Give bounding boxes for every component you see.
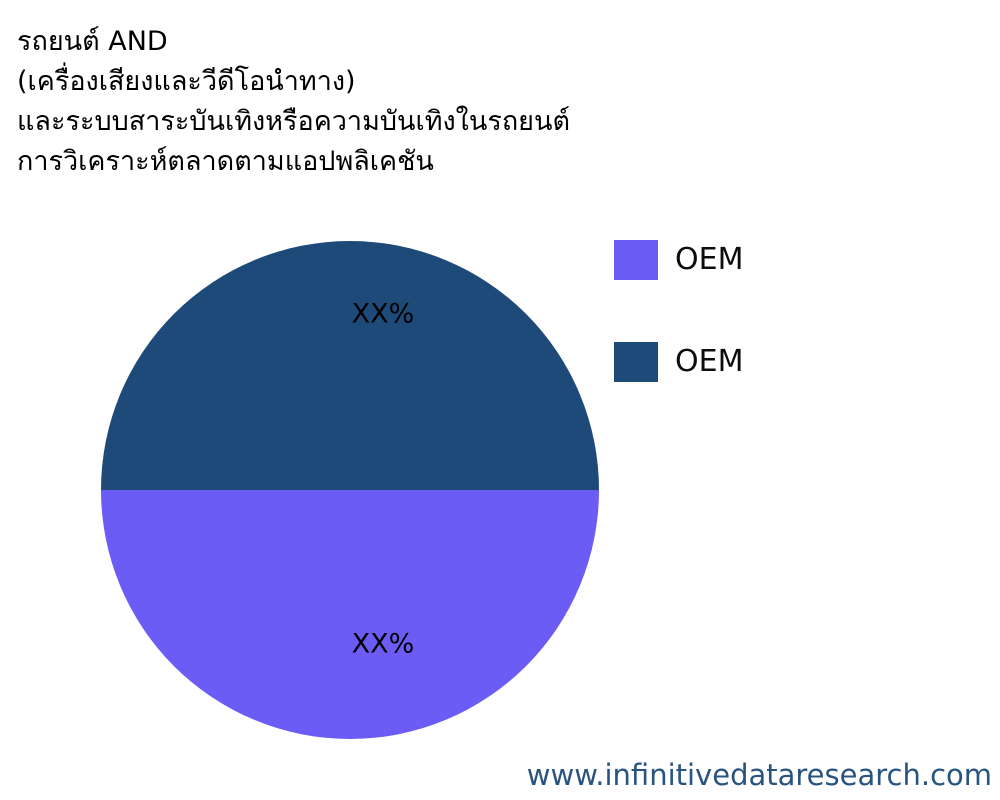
- chart-canvas: รถยนต์ AND (เครื่องเสียงและวีดีโอนำทาง) …: [0, 0, 1000, 800]
- pie-slice-bottom[interactable]: [101, 490, 599, 739]
- legend-swatch-icon-0: [614, 240, 658, 280]
- legend-item-1[interactable]: OEM: [614, 342, 944, 444]
- pie-slice-label-top: XX%: [352, 299, 415, 330]
- footer-url[interactable]: www.infinitivedataresearch.com: [527, 758, 992, 792]
- chart-legend: OEM OEM: [614, 240, 944, 444]
- legend-item-0[interactable]: OEM: [614, 240, 944, 342]
- pie-slice-label-bottom: XX%: [352, 629, 415, 660]
- pie-slice-top[interactable]: [101, 241, 599, 490]
- legend-swatch-icon-1: [614, 342, 658, 382]
- legend-label-0: OEM: [675, 238, 743, 282]
- legend-label-1: OEM: [675, 340, 743, 384]
